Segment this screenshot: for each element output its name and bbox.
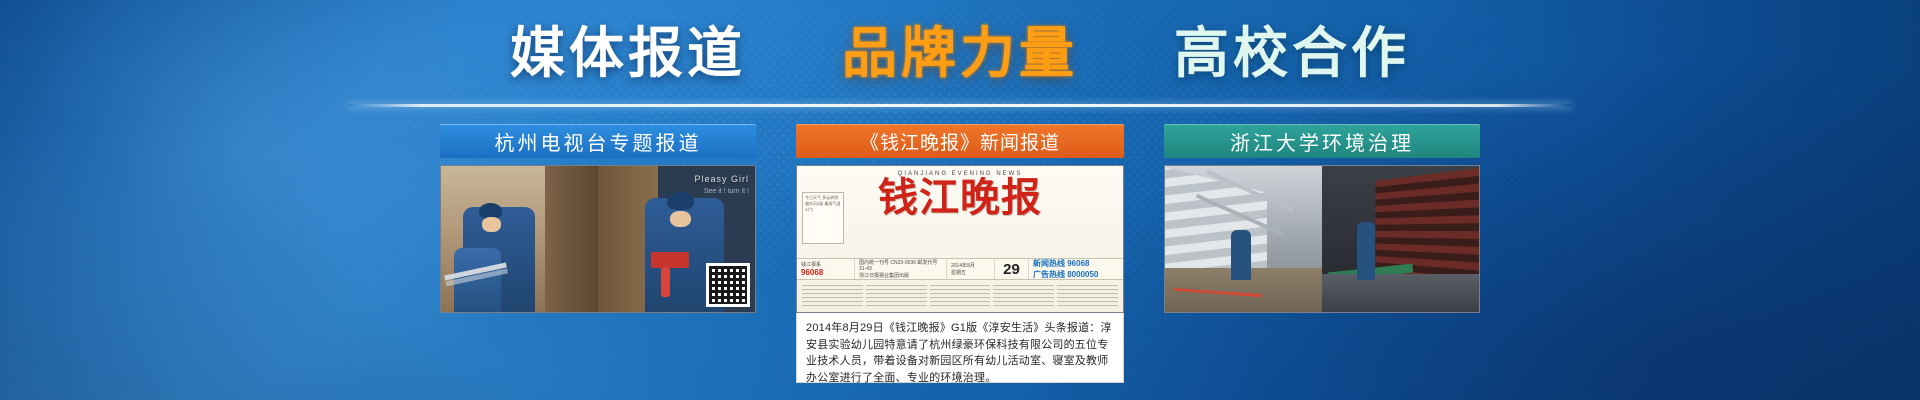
interviewee-face (670, 211, 690, 227)
newspaper-weather-box: 今日天气 多云转阴 偏东风3级 最高气温31℃ (802, 192, 844, 244)
card-university-cooperation: 浙江大学环境治理 (1164, 124, 1480, 313)
stairwell-still (1165, 166, 1322, 312)
tv-interview-photo: Pleasy Girl See it ! turn it ! (440, 165, 756, 313)
newspaper-date: 2014年8月 星期五 (947, 259, 995, 279)
newspaper-photo: QIANJIANG EVENING NEWS 钱江晚报 今日天气 多云转阴 偏东… (796, 165, 1124, 313)
microphone-icon (661, 267, 670, 297)
newspaper-masthead-text: 钱江晚报 (878, 178, 1042, 218)
photo-watermark: Pleasy Girl (694, 174, 749, 184)
newspaper-contact: 新闻热线 96068 广告热线 8000050 (1029, 259, 1123, 279)
card-title-university: 浙江大学环境治理 (1164, 124, 1480, 158)
newspaper-text-columns (797, 282, 1123, 312)
newspaper-caption: 2014年8月29日《钱江晚报》G1版《淳安生活》头条报道：淳安县实验幼儿园特意… (796, 313, 1124, 383)
interviewee-cap-icon (667, 192, 694, 210)
card-tv-report: 杭州电视台专题报道 (440, 124, 756, 313)
horizontal-divider (348, 104, 1572, 107)
worker-figure (1231, 230, 1251, 280)
card-title-tv: 杭州电视台专题报道 (440, 124, 756, 158)
newspaper-date-number: 29 (995, 259, 1029, 279)
card-row: 杭州电视台专题报道 (0, 124, 1920, 383)
tv-still-left (441, 166, 598, 312)
newspaper-hotline: 钱江报系 96068 (797, 259, 855, 279)
worker-figure (1357, 222, 1376, 280)
tv-still-right: Pleasy Girl See it ! turn it ! (598, 166, 755, 312)
promo-banner: 媒体报道 品牌力量 高校合作 杭州电视台专题报道 (0, 0, 1920, 400)
auditorium-still (1322, 166, 1479, 312)
headline-brand-power: 品牌力量 (842, 24, 1078, 83)
auditorium-floor (1322, 274, 1479, 312)
newspaper-info-bar: 钱江报系 96068 国内统一刊号 CN33-0036 邮发代号 31-43 浙… (797, 258, 1123, 280)
photo-watermark-sub: See it ! turn it ! (704, 188, 749, 195)
chest-badge (651, 252, 689, 268)
card-newspaper-report: 《钱江晚报》新闻报道 QIANJIANG EVENING NEWS 钱江晚报 今… (796, 124, 1124, 383)
headline-university-cooperation: 高校合作 (1174, 24, 1410, 83)
headline-media-coverage: 媒体报道 (510, 24, 746, 83)
newspaper-masthead: 钱江晚报 (797, 178, 1123, 218)
worker-face (482, 217, 501, 232)
headline-row: 媒体报道 品牌力量 高校合作 (0, 24, 1920, 83)
qr-code-icon (706, 263, 750, 307)
newspaper-issue-info: 国内统一刊号 CN33-0036 邮发代号 31-43 浙江日报报业集团出版 (855, 259, 947, 279)
university-treatment-photo (1164, 165, 1480, 313)
card-title-newspaper: 《钱江晚报》新闻报道 (796, 124, 1124, 158)
worker-figure-secondary (454, 248, 501, 312)
